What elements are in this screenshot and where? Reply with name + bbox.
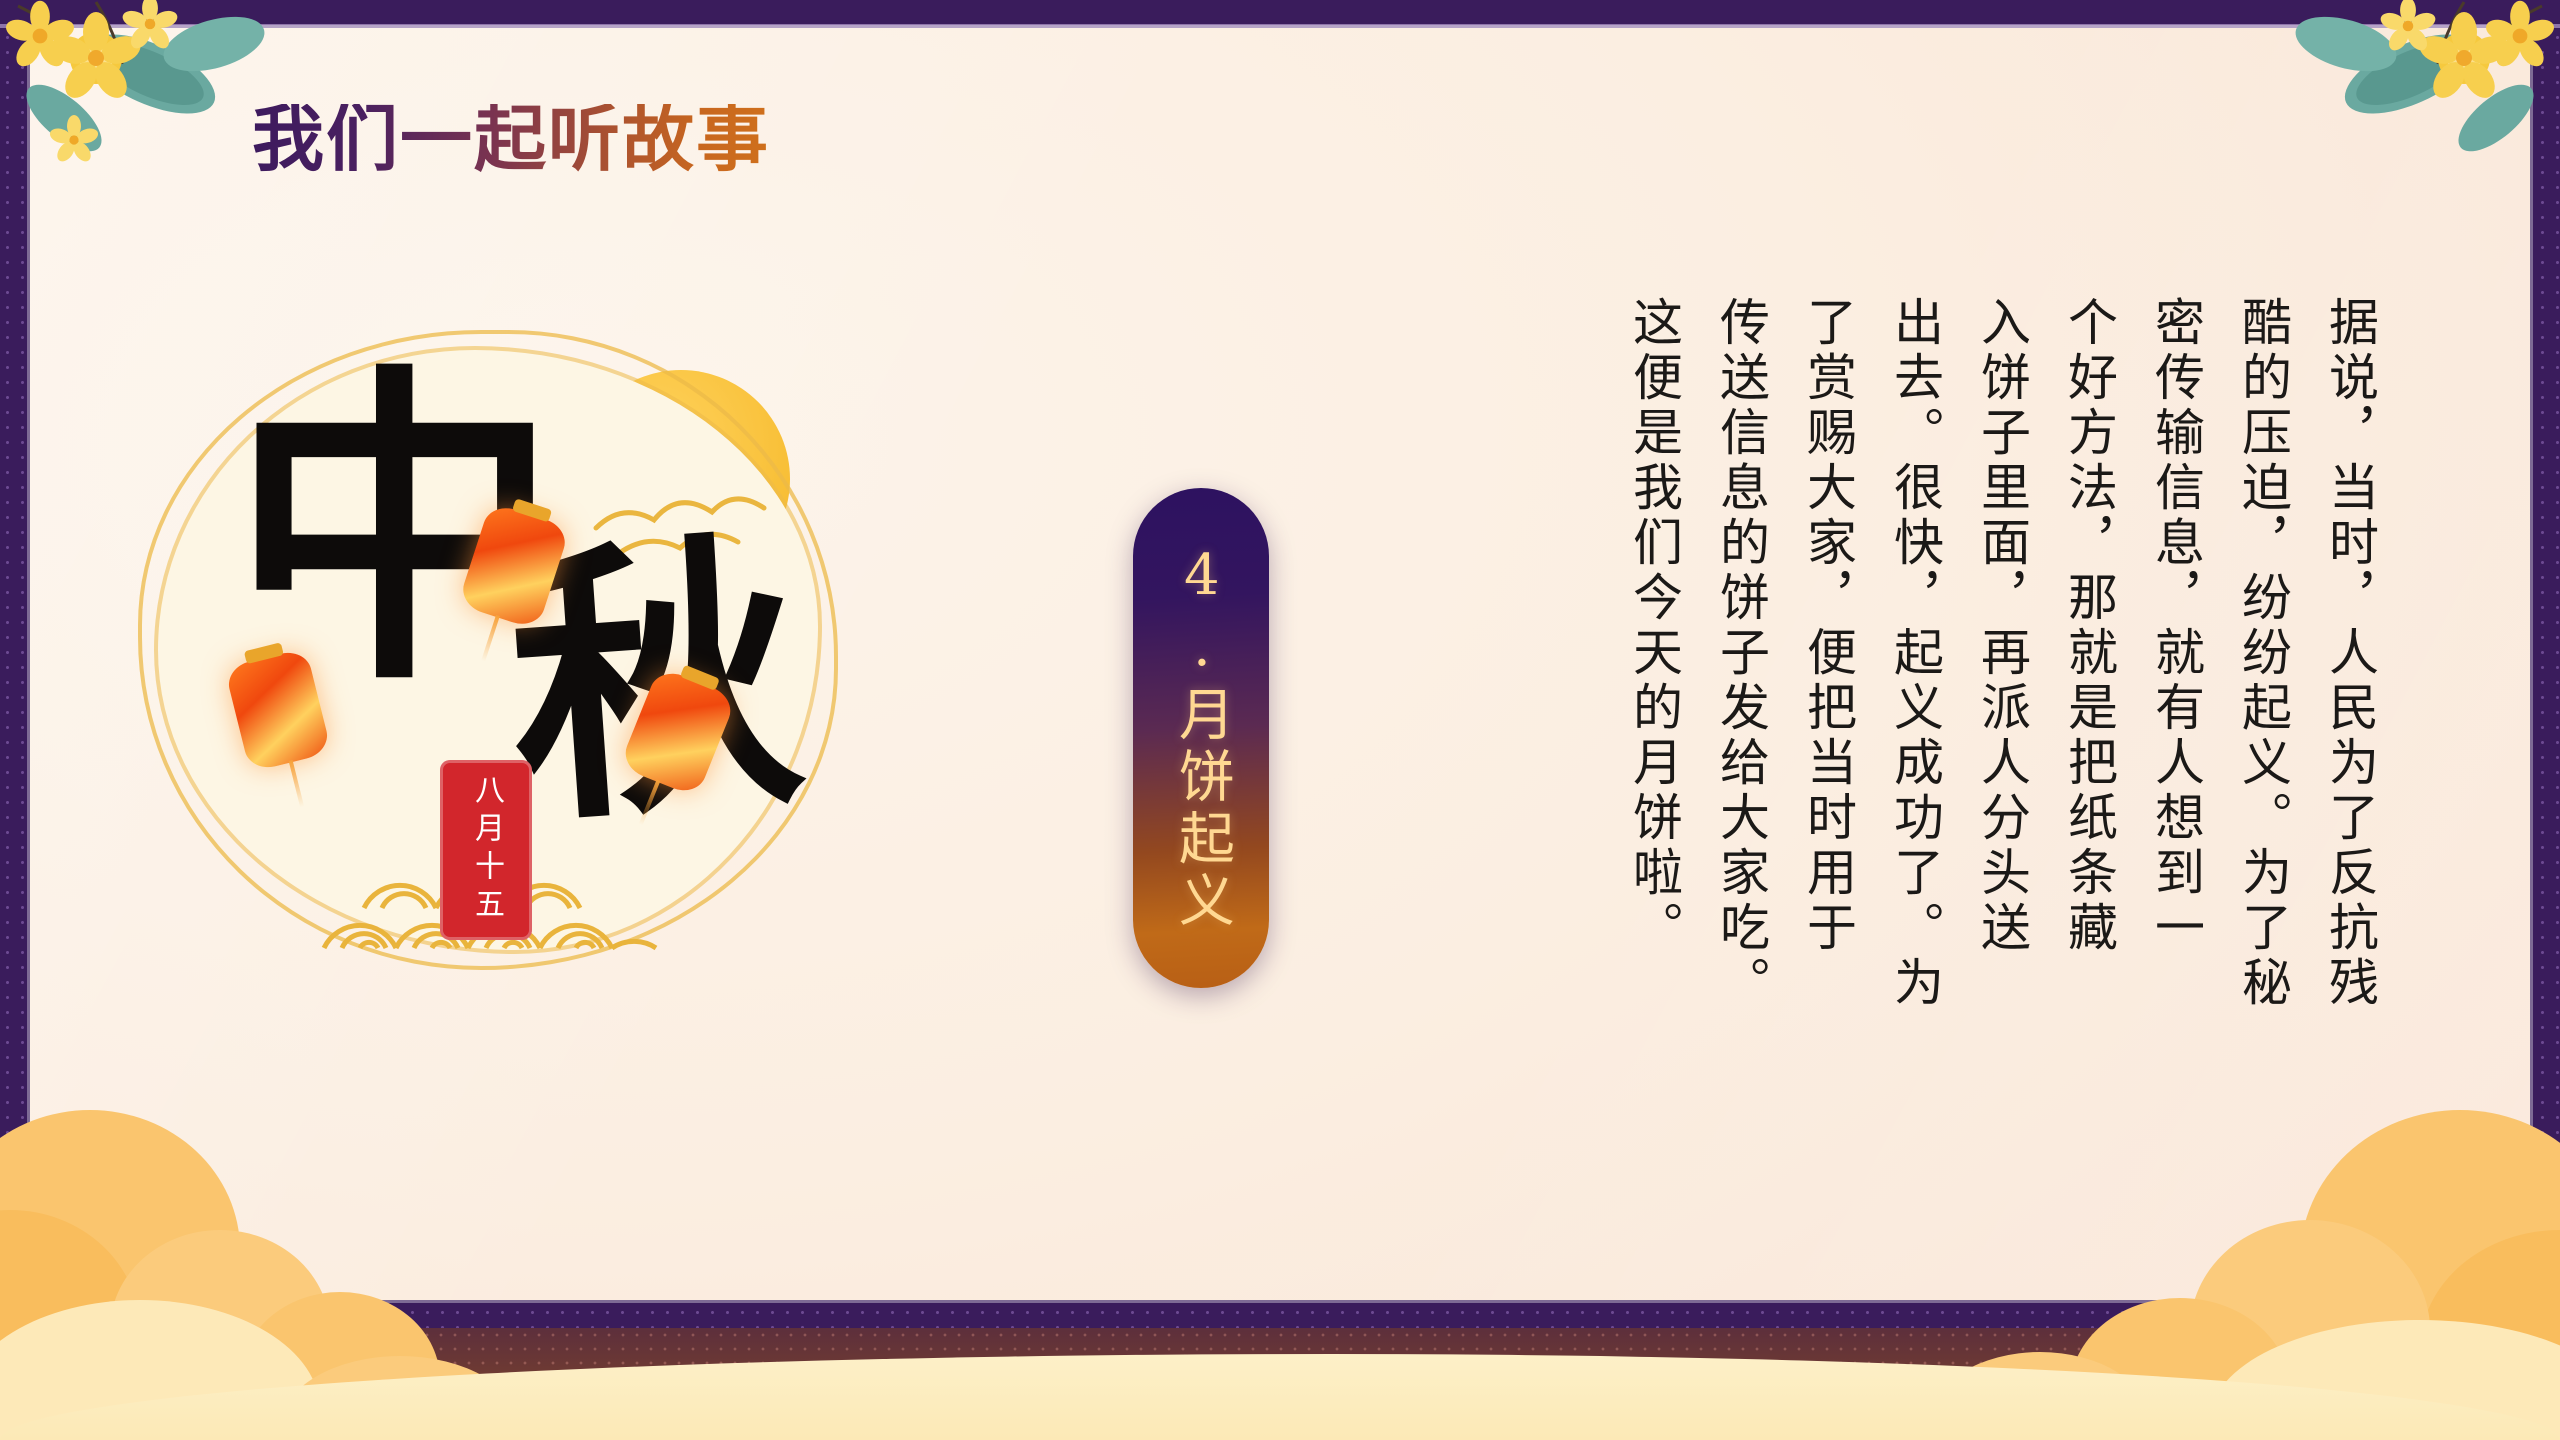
text-column: 出去。很快，起义成功了。为: [1882, 296, 1947, 1080]
top-purple-bar: [0, 0, 2560, 28]
slide-root: 我们一起听故事 中 秋 八月十五 4.月饼起义: [0, 0, 2560, 1440]
text-column: 密传输信息，就有人想到一: [2143, 296, 2208, 1080]
text-column: 入饼子里面，再派人分头送: [1969, 296, 2034, 1080]
red-seal-stamp: 八月十五: [440, 760, 532, 940]
text-column: 据说，当时，人民为了反抗残: [2317, 296, 2382, 1080]
section-number-badge[interactable]: 4.月饼起义: [1133, 488, 1269, 988]
text-column: 这便是我们今天的月饼啦。: [1621, 296, 1686, 1080]
text-column: 传送信息的饼子发给大家吃。: [1708, 296, 1773, 1080]
text-column: 了赏赐大家，便把当时用于: [1795, 296, 1860, 1080]
text-column: 酷的压迫，纷纷起义。为了秘: [2230, 296, 2295, 1080]
page-title: 我们一起听故事: [252, 104, 797, 176]
section-badge-label: 4.月饼起义: [1170, 543, 1233, 933]
story-text-block: 据说，当时，人民为了反抗残 酷的压迫，纷纷起义。为了秘 密传输信息，就有人想到一…: [1621, 296, 2382, 1080]
text-column: 个好方法，那就是把纸条藏: [2056, 296, 2121, 1080]
mid-autumn-logo-artwork: 中 秋 八月十五: [120, 330, 880, 1020]
